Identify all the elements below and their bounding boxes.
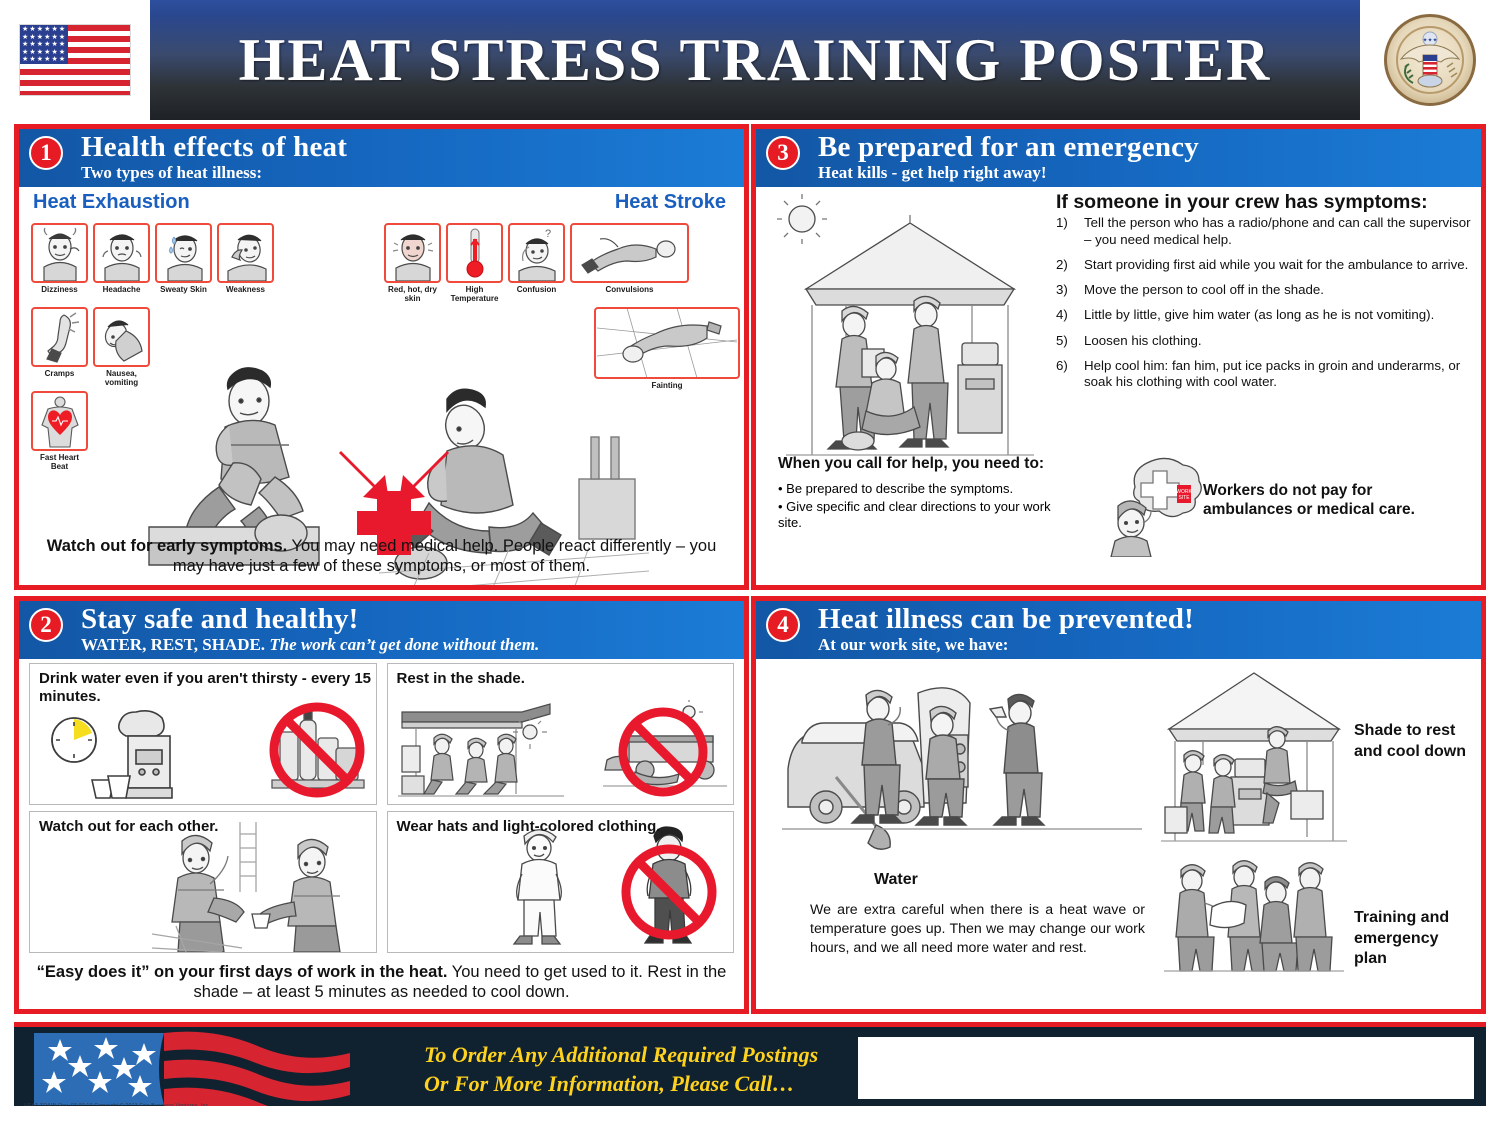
section-4-title: Heat illness can be prevented!: [818, 605, 1477, 635]
symptom-label: Convulsions: [570, 286, 689, 294]
section-2-subtitle: WATER, REST, SHADE. The work can’t get d…: [81, 636, 740, 654]
waving-us-flag-icon: HEAT-TRAIN Rev. 03.00.13 Copyright © 201…: [14, 1027, 414, 1106]
heat-stress-training-poster: ★★★★★★★★★★★★★★★★★★★★★★★★★★★★★★ HEAT STRE…: [0, 0, 1500, 1125]
section-1-health-effects: 1 Health effects of heat Two types of he…: [14, 124, 749, 590]
step-number: 1): [1056, 215, 1084, 247]
step-text: Move the person to cool off in the shade…: [1084, 282, 1475, 298]
svg-text:✦✦✦: ✦✦✦: [1422, 37, 1437, 44]
us-flag-icon: ★★★★★★★★★★★★★★★★★★★★★★★★★★★★★★: [19, 24, 131, 96]
poster-banner: ★★★★★★★★★★★★★★★★★★★★★★★★★★★★★★ HEAT STRE…: [0, 0, 1500, 120]
symptom-label: Headache: [93, 286, 150, 294]
crew-training-meeting-icon: [1164, 855, 1344, 975]
banner-seal-container: ✦✦✦: [1360, 0, 1500, 120]
section-2-subtitle-caps: WATER, REST, SHADE.: [81, 635, 265, 654]
water-cooler-clock-icon: [40, 706, 220, 802]
list-item: Be prepared to describe the symptoms.: [778, 481, 1068, 498]
symptom-label: Weakness: [217, 286, 274, 294]
section-1-footnote-bold: Watch out for early symptoms.: [47, 537, 288, 555]
symptom-tile: High Temperature: [446, 223, 503, 303]
leg-cramp-icon: [31, 307, 88, 367]
section-2-title: Stay safe and healthy!: [81, 605, 740, 635]
section-4-prevention: 4 Heat illness can be prevented! At our …: [751, 596, 1486, 1014]
safety-tiles-grid: Drink water even if you aren't thirsty -…: [29, 663, 734, 953]
workers-sharing-water-icon: [152, 822, 372, 952]
emergency-steps-list: 1)Tell the person who has a radio/phone …: [1056, 215, 1475, 390]
section-1-subtitle: Two types of heat illness:: [81, 164, 740, 182]
order-info-line-2: Or For More Information, Please Call…: [424, 1070, 818, 1099]
dizzy-worker-icon: [31, 223, 88, 283]
convulsions-worker-icon: [570, 223, 689, 283]
shade-label: Shade to rest and cool down: [1354, 721, 1473, 762]
confusion-worker-icon: ?: [508, 223, 565, 283]
svg-text:?: ?: [545, 228, 551, 240]
phone-number-box[interactable]: [856, 1035, 1476, 1101]
section-1-title: Health effects of heat: [81, 133, 740, 163]
section-1-number-badge: 1: [29, 136, 63, 170]
symptom-tile: Dizziness: [31, 223, 88, 294]
section-4-content: Water We are extra careful when there is…: [764, 663, 1473, 1003]
nausea-vomiting-icon: [93, 307, 150, 367]
section-1-body: Heat Exhaustion Heat Stroke Dizziness: [19, 187, 744, 585]
heat-stroke-heading: Heat Stroke: [615, 191, 726, 214]
section-2-header: 2 Stay safe and healthy! WATER, REST, SH…: [19, 601, 744, 659]
symptom-label: Red, hot, dry skin: [384, 286, 441, 303]
symptom-tile: ? Confusion: [508, 223, 565, 303]
list-item: 5)Loosen his clothing.: [1056, 333, 1475, 349]
symptom-tile: Headache: [93, 223, 150, 294]
list-item: 3)Move the person to cool off in the sha…: [1056, 282, 1475, 298]
section-3-number-badge: 3: [766, 136, 800, 170]
section-4-paragraph: We are extra careful when there is a hea…: [810, 901, 1145, 958]
tile-drink-water: Drink water even if you aren't thirsty -…: [29, 663, 377, 805]
weak-worker-icon: [217, 223, 274, 283]
symptom-tile: Cramps: [31, 307, 88, 387]
exhaustion-symptom-row-3: Fast Heart Beat: [31, 391, 88, 471]
step-text: Little by little, give him water (as lon…: [1084, 307, 1475, 323]
no-dark-clothing-icon: [609, 826, 729, 950]
section-2-stay-safe: 2 Stay safe and healthy! WATER, REST, SH…: [14, 596, 749, 1014]
svg-text:SITE: SITE: [1178, 495, 1190, 501]
section-3-header: 3 Be prepared for an emergency Heat kill…: [756, 129, 1481, 187]
section-3-subtitle: Heat kills - get help right away!: [818, 164, 1477, 182]
sweaty-skin-worker-icon: [155, 223, 212, 283]
section-2-body: Drink water even if you aren't thirsty -…: [19, 659, 744, 1009]
symptom-tile: Convulsions: [570, 223, 689, 303]
step-number: 5): [1056, 333, 1084, 349]
poster-sections-grid: 1 Health effects of heat Two types of he…: [14, 124, 1486, 1014]
step-text: Tell the person who has a radio/phone an…: [1084, 215, 1475, 247]
no-sugary-drinks-icon: [262, 698, 372, 802]
section-3-payment-note: Workers do not pay for ambulances or med…: [1203, 481, 1463, 519]
water-truck-crew-icon: [782, 673, 1142, 873]
great-seal-of-the-united-states-icon: ✦✦✦: [1384, 14, 1476, 106]
section-2-footnote: “Easy does it” on your first days of wor…: [33, 963, 730, 1003]
symptom-label: Sweaty Skin: [155, 286, 212, 294]
stroke-symptom-row-1: Red, hot, dry skin High Temperature ? Co…: [384, 223, 689, 303]
section-4-number-badge: 4: [766, 608, 800, 642]
section-3-body: If someone in your crew has symptoms: 1)…: [756, 187, 1481, 585]
tile-rest-in-shade: Rest in the shade.: [387, 663, 735, 805]
list-item: 4)Little by little, give him water (as l…: [1056, 307, 1475, 323]
workers-resting-shade-icon: [396, 698, 566, 802]
section-3-call-info: When you call for help, you need to: Be …: [778, 455, 1068, 533]
section-2-subtitle-italic: The work can’t get done without them.: [265, 635, 539, 654]
step-text: Loosen his clothing.: [1084, 333, 1475, 349]
call-heading: When you call for help, you need to:: [778, 455, 1068, 473]
section-2-footnote-bold: “Easy does it” on your first days of wor…: [37, 963, 448, 981]
heat-exhaustion-heading: Heat Exhaustion: [33, 191, 190, 214]
section-3-list-heading: If someone in your crew has symptoms:: [1056, 191, 1475, 214]
fineprint-copyright: HEAT-TRAIN Rev. 03.00.13 Copyright © 201…: [24, 1103, 210, 1106]
tile-watch-out-for-each-other: Watch out for each other.: [29, 811, 377, 953]
fast-heart-beat-icon: [31, 391, 88, 451]
headache-worker-icon: [93, 223, 150, 283]
list-item: Give specific and clear directions to yo…: [778, 499, 1068, 532]
symptom-label: Fast Heart Beat: [31, 454, 88, 471]
tile-label: Watch out for each other.: [39, 818, 218, 836]
step-text: Start providing first aid while you wait…: [1084, 257, 1475, 273]
eagle-seal-glyph: ✦✦✦: [1395, 25, 1465, 95]
symptom-label: Confusion: [508, 286, 565, 294]
section-4-body: Water We are extra careful when there is…: [756, 659, 1481, 1009]
first-aid-under-canopy-icon: [766, 193, 1051, 483]
poster-title-bar: HEAT STRESS TRAINING POSTER: [150, 0, 1360, 120]
list-item: 2)Start providing first aid while you wa…: [1056, 257, 1475, 273]
list-item: 1)Tell the person who has a radio/phone …: [1056, 215, 1475, 247]
banner-flag-container: ★★★★★★★★★★★★★★★★★★★★★★★★★★★★★★: [0, 0, 150, 120]
section-3-title: Be prepared for an emergency: [818, 133, 1477, 163]
symptom-tile: Red, hot, dry skin: [384, 223, 441, 303]
call-bullet-list: Be prepared to describe the symptoms. Gi…: [778, 481, 1068, 532]
section-1-footnote: Watch out for early symptoms. You may ne…: [35, 537, 728, 577]
tile-label: Drink water even if you aren't thirsty -…: [39, 670, 376, 705]
tile-label: Rest in the shade.: [397, 670, 525, 688]
tile-wear-hats-light-clothing: Wear hats and light-colored clothing.: [387, 811, 735, 953]
step-number: 6): [1056, 358, 1084, 390]
worker-on-phone-thought-bubble-icon: WORK SITE: [1101, 451, 1211, 557]
poster-footer: HEAT-TRAIN Rev. 03.00.13 Copyright © 201…: [14, 1022, 1486, 1106]
section-4-subtitle: At our work site, we have:: [818, 636, 1477, 654]
step-text: Help cool him: fan him, put ice packs in…: [1084, 358, 1475, 390]
no-rest-under-truck-icon: [601, 700, 729, 800]
section-3-instructions: If someone in your crew has symptoms: 1)…: [1056, 191, 1475, 399]
section-4-header: 4 Heat illness can be prevented! At our …: [756, 601, 1481, 659]
symptom-label: High Temperature: [446, 286, 503, 303]
order-info-line-1: To Order Any Additional Required Posting…: [424, 1041, 818, 1070]
symptom-tile: Fast Heart Beat: [31, 391, 88, 471]
section-2-number-badge: 2: [29, 608, 63, 642]
page-title: HEAT STRESS TRAINING POSTER: [239, 30, 1272, 90]
order-info-text: To Order Any Additional Required Posting…: [424, 1041, 818, 1098]
symptom-label: Cramps: [31, 370, 88, 378]
section-3-emergency: 3 Be prepared for an emergency Heat kill…: [751, 124, 1486, 590]
exhaustion-symptom-row-1: Dizziness Headache Sweaty Skin: [31, 223, 274, 294]
symptom-tile: Weakness: [217, 223, 274, 294]
step-number: 3): [1056, 282, 1084, 298]
tile-label: Wear hats and light-colored clothing.: [397, 818, 661, 836]
symptom-label: Dizziness: [31, 286, 88, 294]
training-label: Training and emergency plan: [1354, 908, 1473, 969]
canopy-shade-crew-icon: [1159, 667, 1349, 857]
light-clothing-worker-icon: [496, 826, 582, 950]
symptom-tile: Sweaty Skin: [155, 223, 212, 294]
water-caption: Water: [874, 871, 918, 889]
step-number: 4): [1056, 307, 1084, 323]
red-hot-dry-skin-icon: [384, 223, 441, 283]
list-item: 6)Help cool him: fan him, put ice packs …: [1056, 358, 1475, 390]
section-1-header: 1 Health effects of heat Two types of he…: [19, 129, 744, 187]
thermometer-icon: [446, 223, 503, 283]
step-number: 2): [1056, 257, 1084, 273]
